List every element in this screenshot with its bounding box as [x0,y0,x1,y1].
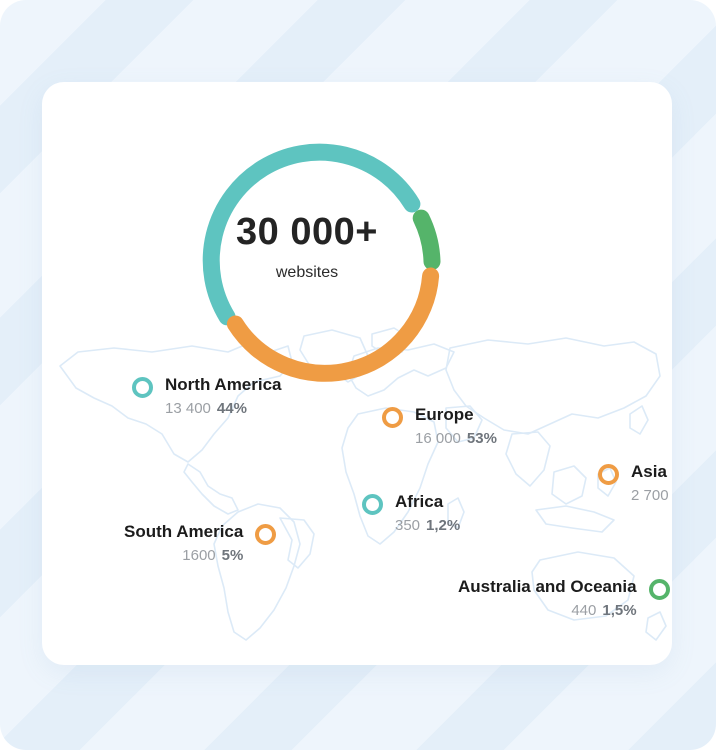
region-marker-icon-south-america [255,524,276,545]
donut-chart: 30 000+ websites [172,112,442,382]
region-count-asia: 2 700 [631,487,669,504]
region-name-europe: Europe [415,405,497,425]
region-label-south-america[interactable]: South America 16005% [124,522,276,565]
region-percent-europe: 53% [467,430,497,447]
region-stats-africa: 3501,2% [395,517,460,535]
region-label-asia[interactable]: Asia 2 7009% [598,462,672,505]
total-websites-unit: websites [276,264,338,282]
region-percent-north-america: 44% [217,400,247,417]
page-background: 30 000+ websites North America 13 40044%… [0,0,716,750]
region-marker-icon-asia [598,464,619,485]
region-count-south-america: 1600 [182,547,215,564]
region-label-europe[interactable]: Europe 16 00053% [382,405,497,448]
region-label-north-america[interactable]: North America 13 40044% [132,375,282,418]
region-percent-africa: 1,2% [426,517,460,534]
region-percent-south-america: 5% [222,547,244,564]
region-marker-icon-europe [382,407,403,428]
region-stats-north-america: 13 40044% [165,400,282,418]
region-stats-south-america: 16005% [182,547,243,565]
region-stats-australia-and-oceania: 4401,5% [571,602,636,620]
donut-center-label: 30 000+ websites [172,112,442,382]
region-marker-icon-north-america [132,377,153,398]
region-marker-icon-australia-and-oceania [649,579,670,600]
region-stats-europe: 16 00053% [415,430,497,448]
map-shape-central-america [184,464,238,514]
region-count-africa: 350 [395,517,420,534]
statistics-card: 30 000+ websites North America 13 40044%… [42,82,672,665]
region-name-africa: Africa [395,492,460,512]
region-count-australia-and-oceania: 440 [571,602,596,619]
map-shape-southeast-asia [552,466,586,504]
region-count-europe: 16 000 [415,430,461,447]
region-stats-asia: 2 7009% [631,487,672,505]
region-label-africa[interactable]: Africa 3501,2% [362,492,460,535]
map-shape-japan [630,406,648,434]
region-label-australia-and-oceania[interactable]: Australia and Oceania 4401,5% [458,577,670,620]
region-percent-australia-and-oceania: 1,5% [602,602,636,619]
region-name-asia: Asia [631,462,672,482]
region-marker-icon-africa [362,494,383,515]
map-shape-south-america-east [280,518,314,568]
region-name-north-america: North America [165,375,282,395]
region-name-south-america: South America [124,522,243,542]
map-shape-indonesia [536,506,614,532]
total-websites-value: 30 000+ [236,213,378,251]
map-shape-india [506,432,550,486]
region-count-north-america: 13 400 [165,400,211,417]
region-name-australia-and-oceania: Australia and Oceania [458,577,637,597]
